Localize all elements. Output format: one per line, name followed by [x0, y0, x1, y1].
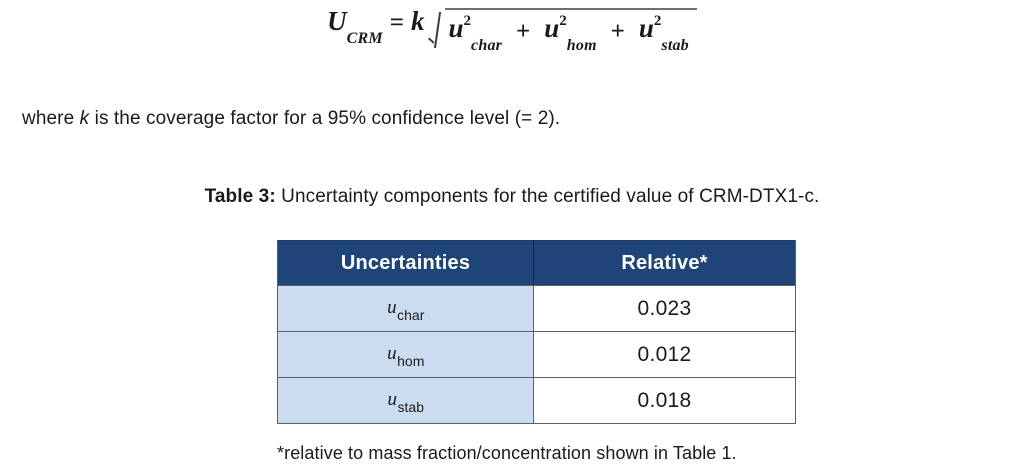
term-char-subscript: char [471, 37, 502, 54]
term-hom-base: u [544, 13, 559, 43]
table-row: uhom 0.012 [278, 332, 796, 378]
equation-coverage-factor-symbol: k [411, 8, 425, 35]
column-header-relative: Relative* [534, 241, 796, 286]
row-label-u-hom: uhom [278, 332, 534, 378]
term-char-exponent: 2 [464, 13, 472, 29]
term-hom-subscript: hom [567, 37, 597, 54]
table-header: Uncertainties Relative* [278, 241, 796, 286]
equation-lhs-subscript: CRM [347, 30, 383, 47]
u-char-symbol: u [387, 297, 397, 318]
equation-equals-sign: = [383, 10, 411, 35]
equation-term-stab: u2stab [639, 15, 689, 47]
u-stab-symbol: u [388, 389, 398, 410]
term-char-base: u [449, 13, 464, 43]
coverage-factor-paragraph: where k is the coverage factor for a 95%… [22, 108, 560, 130]
equation-lhs: UCRM [327, 8, 383, 40]
row-value-u-stab: 0.018 [534, 378, 796, 424]
equation-square-root: u2char + u2hom + u2stab [428, 8, 697, 50]
document-page: { "equation": { "lhs_symbol": "U", "lhs_… [0, 0, 1024, 476]
table-caption: Table 3: Uncertainty components for the … [0, 186, 1024, 208]
u-hom-subscript: hom [397, 353, 424, 369]
u-char-subscript: char [397, 307, 424, 323]
row-label-u-stab: ustab [278, 378, 534, 424]
row-value-u-hom: 0.012 [534, 332, 796, 378]
paragraph-italic-symbol: k [80, 108, 90, 129]
table-body: uchar 0.023 uhom 0.012 ustab 0.018 [278, 286, 796, 424]
equation-term-hom: u2hom [544, 15, 596, 47]
equation-term-char: u2char [449, 15, 503, 47]
table-caption-text: Uncertainty components for the certified… [276, 186, 820, 207]
term-stab-base: u [639, 13, 654, 43]
equation-row: UCRM = k u2char + u2hom + u2stab [327, 8, 697, 50]
table-caption-label: Table 3: [205, 186, 276, 207]
term-hom-exponent: 2 [559, 13, 567, 29]
equation-plus-sign-1: + [509, 18, 537, 45]
term-stab-subscript: stab [661, 37, 688, 54]
paragraph-text-before: where [22, 108, 80, 129]
equation-lhs-symbol: U [327, 6, 347, 36]
paragraph-text-after: is the coverage factor for a 95% confide… [89, 108, 560, 129]
table-row: uchar 0.023 [278, 286, 796, 332]
row-label-u-char: uchar [278, 286, 534, 332]
table-row: ustab 0.018 [278, 378, 796, 424]
column-header-uncertainties: Uncertainties [278, 241, 534, 286]
equation-ucrm: UCRM = k u2char + u2hom + u2stab [0, 8, 1024, 50]
term-stab-exponent: 2 [654, 13, 662, 29]
uncertainty-components-table: Uncertainties Relative* uchar 0.023 uhom… [277, 240, 796, 424]
table-footnote: *relative to mass fraction/concentration… [277, 443, 737, 464]
equation-radicand: u2char + u2hom + u2stab [445, 8, 697, 50]
radical-sign-icon [428, 8, 445, 50]
u-stab-subscript: stab [398, 399, 424, 415]
equation-plus-sign-2: + [604, 18, 632, 45]
u-hom-symbol: u [387, 343, 397, 364]
table-header-row: Uncertainties Relative* [278, 241, 796, 286]
row-value-u-char: 0.023 [534, 286, 796, 332]
